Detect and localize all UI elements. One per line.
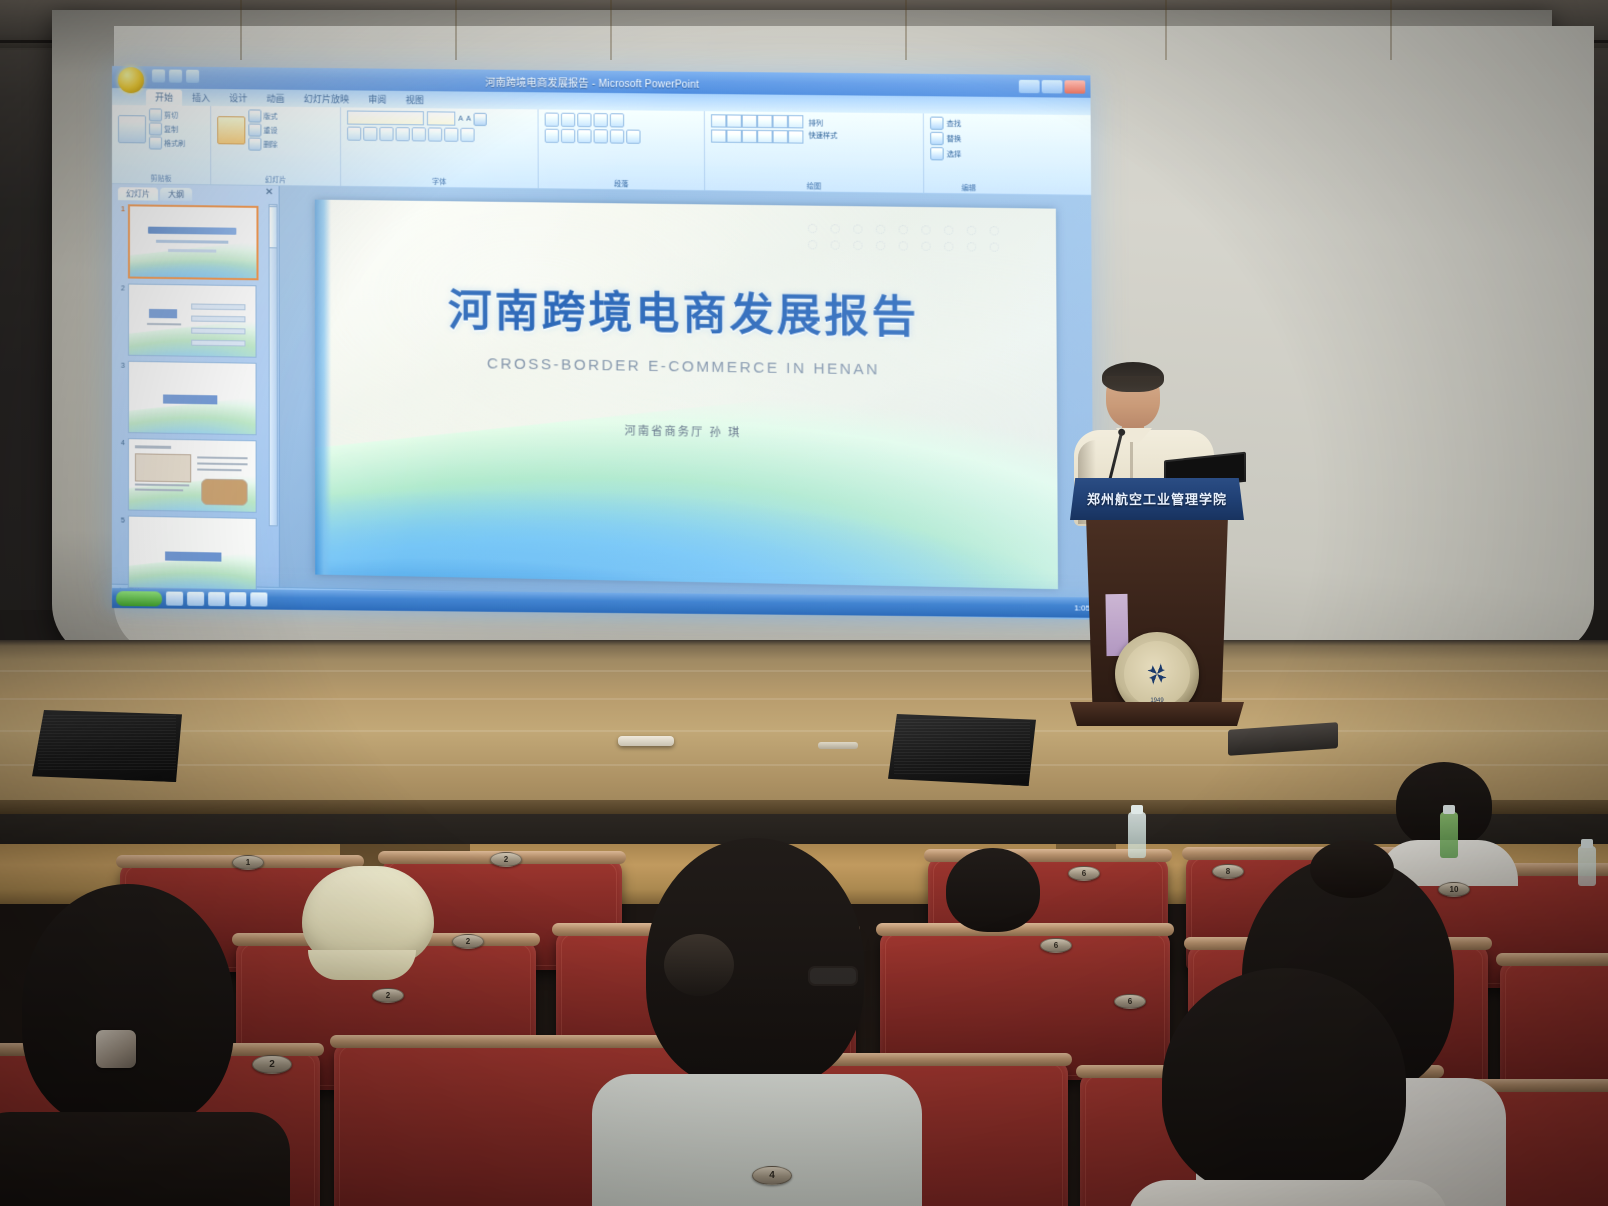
thumb-subtitle-bar: [156, 240, 228, 244]
thumb-text: [197, 468, 241, 471]
ribbon-tab-insert[interactable]: 插入: [183, 90, 219, 106]
shape-banner-icon[interactable]: [773, 130, 788, 143]
office-orb-icon[interactable]: [118, 67, 144, 93]
ribbon-group-font: A A 字体: [341, 107, 539, 188]
shape-curve-icon[interactable]: [711, 129, 726, 142]
shape-freeform-icon[interactable]: [726, 130, 741, 143]
shoulders: [0, 1112, 290, 1206]
replace-label[interactable]: 替换: [947, 134, 962, 144]
slide-thumbnail[interactable]: 3: [118, 361, 273, 436]
seat-number-plate: 6: [1068, 866, 1100, 881]
justify-icon[interactable]: [594, 129, 608, 143]
thumbnail-preview[interactable]: [128, 284, 257, 358]
stage-cable-cover: [618, 736, 674, 746]
font-color-icon[interactable]: [460, 128, 474, 142]
slide-thumbnail[interactable]: 1: [118, 204, 273, 280]
thumb-text: [147, 323, 181, 326]
thumbnail-number: 1: [118, 204, 125, 213]
nav-pane-scrollbar[interactable]: [269, 204, 278, 527]
reset-label: 重设: [263, 125, 277, 135]
slide-thumbnail[interactable]: 2: [118, 283, 273, 358]
arrange-label[interactable]: 排列: [808, 118, 837, 128]
powerpoint-window[interactable]: 河南跨境电商发展报告 - Microsoft PowerPoint 开始 插入 …: [112, 66, 1094, 618]
columns-icon[interactable]: [610, 129, 624, 143]
nav-pane-scroll-thumb[interactable]: [269, 206, 278, 248]
shoulders: [592, 1074, 922, 1206]
audience-member: [940, 848, 1050, 958]
thumbnail-number: 2: [118, 283, 125, 292]
thumb-image: [135, 453, 191, 482]
start-button[interactable]: [116, 591, 162, 606]
wall-panel-left: [0, 50, 54, 610]
ribbon-tab-animations[interactable]: 动画: [257, 90, 293, 106]
layout-icon[interactable]: [248, 109, 261, 122]
quick-access-toolbar[interactable]: [152, 69, 199, 82]
audience-member: [632, 838, 882, 1206]
cut-label: 剪切: [164, 110, 178, 120]
clear-formatting-icon[interactable]: [474, 112, 487, 125]
audience-member-with-cap: [302, 866, 442, 996]
font-size-combo[interactable]: [427, 111, 455, 125]
shape-line-icon[interactable]: [711, 114, 726, 127]
numbering-icon[interactable]: [561, 113, 575, 127]
seat-rail: [1496, 953, 1608, 966]
lectern: 1949 郑州航空工业管理学院: [1070, 478, 1244, 748]
window-controls[interactable]: [1019, 79, 1085, 93]
find-label[interactable]: 查找: [947, 118, 962, 128]
thumb-image: [201, 479, 247, 506]
audience-member: [1152, 968, 1422, 1206]
slide-thumbnail[interactable]: 4: [118, 438, 273, 513]
stage-monitor-left: [32, 710, 182, 782]
tab-slides[interactable]: 幻灯片: [118, 187, 158, 201]
water-bottle: [1128, 812, 1146, 858]
ribbon-group-editing: 查找 替换 选择 编辑: [924, 113, 1013, 193]
ribbon-group-clipboard-label: 剪贴板: [112, 173, 210, 184]
lectern-body: 1949: [1080, 520, 1234, 702]
redo-icon[interactable]: [186, 70, 199, 83]
ribbon-tab-home[interactable]: 开始: [146, 89, 182, 105]
seat-number-plate: 6: [1114, 994, 1146, 1009]
thumbnail-preview[interactable]: [128, 516, 257, 591]
line-spacing-icon[interactable]: [610, 113, 624, 127]
slide-placeholder-dots: [807, 224, 1024, 261]
cut-icon[interactable]: [149, 108, 162, 121]
thumb-item: [191, 303, 245, 310]
bottle-cap: [1131, 805, 1143, 814]
monitor-grill: [38, 715, 176, 770]
seat-number-plate: 2: [452, 934, 484, 949]
monitor-grill: [894, 719, 1030, 774]
ribbon-group-drawing: 排列 快速样式 绘图: [705, 111, 924, 193]
ribbon-tab-review[interactable]: 审阅: [359, 91, 395, 107]
font-family-combo[interactable]: [347, 110, 424, 125]
shrink-font-icon[interactable]: A: [466, 115, 471, 122]
thumb-item: [191, 316, 245, 323]
slide-thumbnail-list[interactable]: 1 2: [116, 200, 275, 595]
glasses-icon: [808, 966, 858, 986]
seat-number-plate: 2: [372, 988, 404, 1003]
seat-number-plate: 8: [1212, 864, 1244, 879]
italic-icon[interactable]: [363, 127, 377, 141]
increase-indent-icon[interactable]: [594, 113, 608, 127]
align-center-icon[interactable]: [561, 129, 575, 143]
ribbon[interactable]: 剪切 复制 格式刷 剪贴板 版式 重设 删除 幻灯片: [112, 105, 1091, 196]
tab-outline[interactable]: 大纲: [160, 188, 192, 201]
shape-arrow-icon[interactable]: [726, 114, 741, 127]
ribbon-group-slides: 版式 重设 删除 幻灯片: [211, 106, 341, 186]
text-direction-icon[interactable]: [626, 130, 640, 144]
shape-oval-icon[interactable]: [757, 115, 772, 128]
hair-clip: [96, 1030, 136, 1068]
ribbon-group-slides-label: 幻灯片: [211, 174, 340, 186]
copy-label: 复制: [164, 124, 178, 134]
ribbon-tab-design[interactable]: 设计: [220, 90, 256, 106]
format-painter-label: 格式刷: [164, 138, 185, 148]
stage-monitor-right: [888, 714, 1036, 786]
save-icon[interactable]: [152, 69, 165, 82]
thumbnail-number: 4: [118, 438, 125, 447]
char-spacing-icon[interactable]: [428, 127, 442, 141]
bottle-cap: [1581, 839, 1593, 848]
seat-number-plate: 6: [1040, 938, 1072, 953]
title-separator: -: [589, 78, 599, 89]
shape-more-icon[interactable]: [788, 115, 803, 128]
document-title: 河南跨境电商发展报告: [485, 77, 589, 89]
change-case-icon[interactable]: [444, 128, 458, 142]
hair-bun: [1310, 840, 1394, 898]
current-slide[interactable]: 河南跨境电商发展报告 CROSS-BORDER E-COMMERCE IN HE…: [314, 200, 1057, 590]
shapes-gallery[interactable]: [711, 114, 801, 143]
lectern-base: [1070, 702, 1244, 726]
cap-brim: [308, 950, 416, 980]
shape-rect-icon[interactable]: [742, 115, 757, 128]
bold-icon[interactable]: [347, 127, 361, 141]
find-icon[interactable]: [930, 117, 943, 130]
taskbar-app-media-icon[interactable]: [229, 592, 246, 606]
workspace: 幻灯片 大纲 ✕ 1: [112, 184, 1094, 603]
ribbon-group-paragraph: 段落: [539, 109, 706, 190]
auditorium-photo: 河南跨境电商发展报告 - Microsoft PowerPoint 开始 插入 …: [0, 0, 1608, 1206]
copy-icon[interactable]: [149, 122, 162, 135]
thumbnail-number: 5: [118, 515, 125, 524]
thumbnail-number: 3: [118, 361, 125, 370]
slide-editing-area[interactable]: 河南跨境电商发展报告 CROSS-BORDER E-COMMERCE IN HE…: [280, 186, 1094, 603]
lectern-banner: 郑州航空工业管理学院: [1070, 478, 1244, 520]
thumb-text: [197, 456, 247, 459]
water-bottle: [1578, 846, 1596, 886]
head: [22, 884, 234, 1128]
thumb-heading: [165, 551, 221, 561]
shape-star-icon[interactable]: [757, 130, 772, 143]
thumb-heading: [163, 394, 217, 404]
thumb-text: [197, 462, 247, 465]
taskbar-app-explorer-icon[interactable]: [166, 592, 183, 606]
undo-icon[interactable]: [169, 70, 182, 83]
thumbnail-preview[interactable]: [128, 438, 257, 513]
seat-number-plate: 1: [232, 855, 264, 870]
minimize-button[interactable]: [1019, 79, 1040, 92]
shape-flow-icon[interactable]: [788, 130, 803, 143]
ribbon-group-editing-label: 编辑: [924, 183, 1013, 194]
thumb-author-bar: [168, 249, 216, 253]
app-name: Microsoft PowerPoint: [599, 78, 700, 90]
paste-icon[interactable]: [118, 115, 146, 143]
speaker-hair: [1102, 362, 1164, 392]
seat-number-plate: 2: [490, 852, 522, 867]
replace-icon[interactable]: [930, 132, 943, 145]
thumb-item: [191, 340, 245, 347]
layout-label: 版式: [263, 111, 277, 121]
seat-number-plate: 10: [1438, 882, 1470, 897]
shape-triangle-icon[interactable]: [773, 115, 788, 128]
bullets-icon[interactable]: [545, 113, 559, 127]
bottle-cap: [1443, 805, 1455, 814]
strikethrough-icon[interactable]: [412, 127, 426, 141]
head: [1162, 968, 1406, 1198]
lectern-banner-text: 郑州航空工业管理学院: [1070, 489, 1244, 508]
taskbar-app-powerpoint-icon[interactable]: [208, 592, 225, 606]
nav-pane-close-icon[interactable]: ✕: [265, 187, 273, 198]
baseball-cap: [302, 866, 434, 964]
ribbon-group-clipboard: 剪切 复制 格式刷 剪贴板: [112, 105, 211, 184]
shoulders: [1128, 1180, 1448, 1206]
water-bottle: [1440, 812, 1458, 858]
shadow-icon[interactable]: [396, 127, 410, 141]
grow-font-icon[interactable]: A: [458, 115, 463, 122]
slide-title[interactable]: 河南跨境电商发展报告: [314, 274, 1056, 348]
restore-button[interactable]: [1042, 80, 1063, 93]
head: [946, 848, 1040, 932]
ribbon-tab-view[interactable]: 视图: [397, 92, 433, 108]
hair-bun: [664, 934, 734, 996]
close-button[interactable]: [1064, 80, 1085, 93]
thumb-title-bar: [148, 227, 236, 235]
delete-slide-label: 删除: [263, 139, 277, 149]
seat-number-plate: 2: [252, 1055, 292, 1074]
align-left-icon[interactable]: [545, 129, 559, 143]
taskbar-app-browser-icon[interactable]: [187, 592, 204, 606]
slide-left-accent: [314, 200, 331, 575]
thumb-text: [135, 445, 171, 449]
align-right-icon[interactable]: [577, 129, 591, 143]
reset-icon[interactable]: [248, 123, 261, 136]
thumb-heading: [149, 309, 177, 318]
taskbar-app-folder-icon[interactable]: [250, 592, 267, 606]
select-label[interactable]: 选择: [947, 149, 962, 159]
thumbnail-preview[interactable]: [128, 361, 257, 435]
format-painter-icon[interactable]: [149, 136, 162, 149]
ribbon-tab-slideshow[interactable]: 幻灯片放映: [295, 91, 359, 108]
seat-number-plate: 4: [752, 1166, 792, 1185]
decrease-indent-icon[interactable]: [577, 113, 591, 127]
shape-callout-icon[interactable]: [742, 130, 757, 143]
underline-icon[interactable]: [379, 127, 393, 141]
thumb-item: [191, 328, 245, 335]
quick-styles-label[interactable]: 快速样式: [809, 131, 838, 141]
new-slide-icon[interactable]: [217, 116, 245, 144]
select-icon[interactable]: [930, 147, 943, 160]
stage-small-object: [818, 742, 858, 749]
delete-slide-icon[interactable]: [248, 138, 261, 151]
slide-navigation-pane[interactable]: 幻灯片 大纲 ✕ 1: [112, 184, 280, 587]
thumbnail-preview[interactable]: [128, 204, 259, 280]
ribbon-group-paragraph-label: 段落: [539, 178, 704, 190]
nav-pane-tabs[interactable]: 幻灯片 大纲: [116, 184, 275, 202]
slide-thumbnail[interactable]: 5: [118, 515, 273, 591]
